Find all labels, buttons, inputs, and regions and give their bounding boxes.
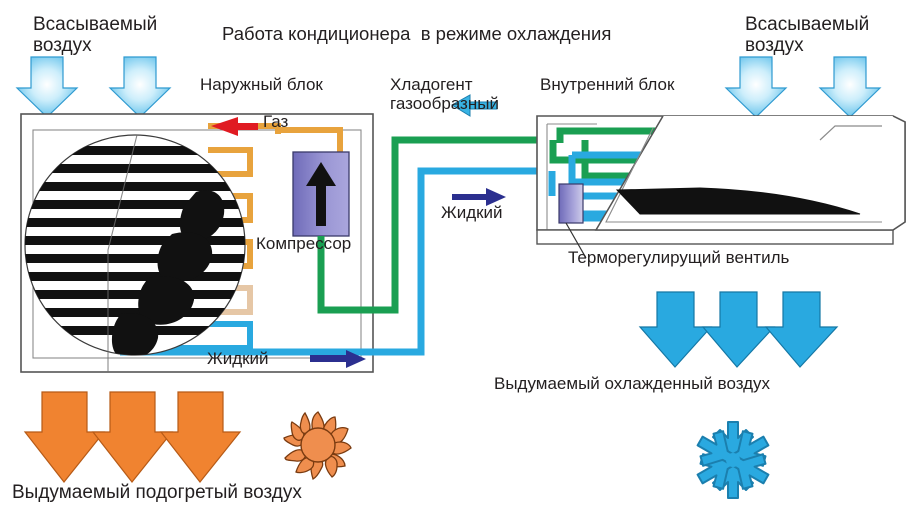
indoor-unit <box>537 116 905 258</box>
cold-air-arrow-1 <box>640 292 711 367</box>
intake-left-label: Всасываемый воздух <box>33 14 157 57</box>
intake-arrow-right-1 <box>726 57 786 117</box>
cold-air-arrow-2 <box>703 292 774 367</box>
cold-air-label: Выдумаемый охлажденный воздух <box>494 374 770 393</box>
hot-air-arrow-1 <box>25 392 104 482</box>
thermo-valve <box>559 184 583 223</box>
hot-air-label: Выдумаемый подогретый воздух <box>12 482 302 503</box>
snowflake-icon <box>690 422 776 498</box>
compressor <box>293 152 349 236</box>
diagram-canvas: Всасываемый воздух Работа кондиционера в… <box>0 0 920 516</box>
compressor-label: Компрессор <box>256 234 351 253</box>
indoor-unit-label: Внутренний блок <box>540 75 674 94</box>
outdoor-unit-label: Наружный блок <box>200 75 323 94</box>
thermo-valve-label: Терморегулирущий вентиль <box>568 248 789 267</box>
sun-icon <box>284 412 351 479</box>
intake-right-label: Всасываемый воздух <box>745 14 869 57</box>
hot-air-arrow-2 <box>93 392 172 482</box>
refrigerant-gas-label: Хладогент газообразный <box>390 75 499 113</box>
page-title: Работа кондиционера в режиме охлаждения <box>222 24 611 45</box>
cold-air-arrow-3 <box>766 292 837 367</box>
intake-arrow-left-2 <box>110 57 170 117</box>
intake-arrow-right-2 <box>820 57 880 117</box>
liquid-outdoor-label: Жидкий <box>207 349 269 368</box>
gas-label: Газ <box>263 112 288 131</box>
hot-air-arrow-3 <box>161 392 240 482</box>
intake-arrow-left-1 <box>17 57 77 117</box>
liquid-mid-label: Жидкий <box>441 203 503 222</box>
